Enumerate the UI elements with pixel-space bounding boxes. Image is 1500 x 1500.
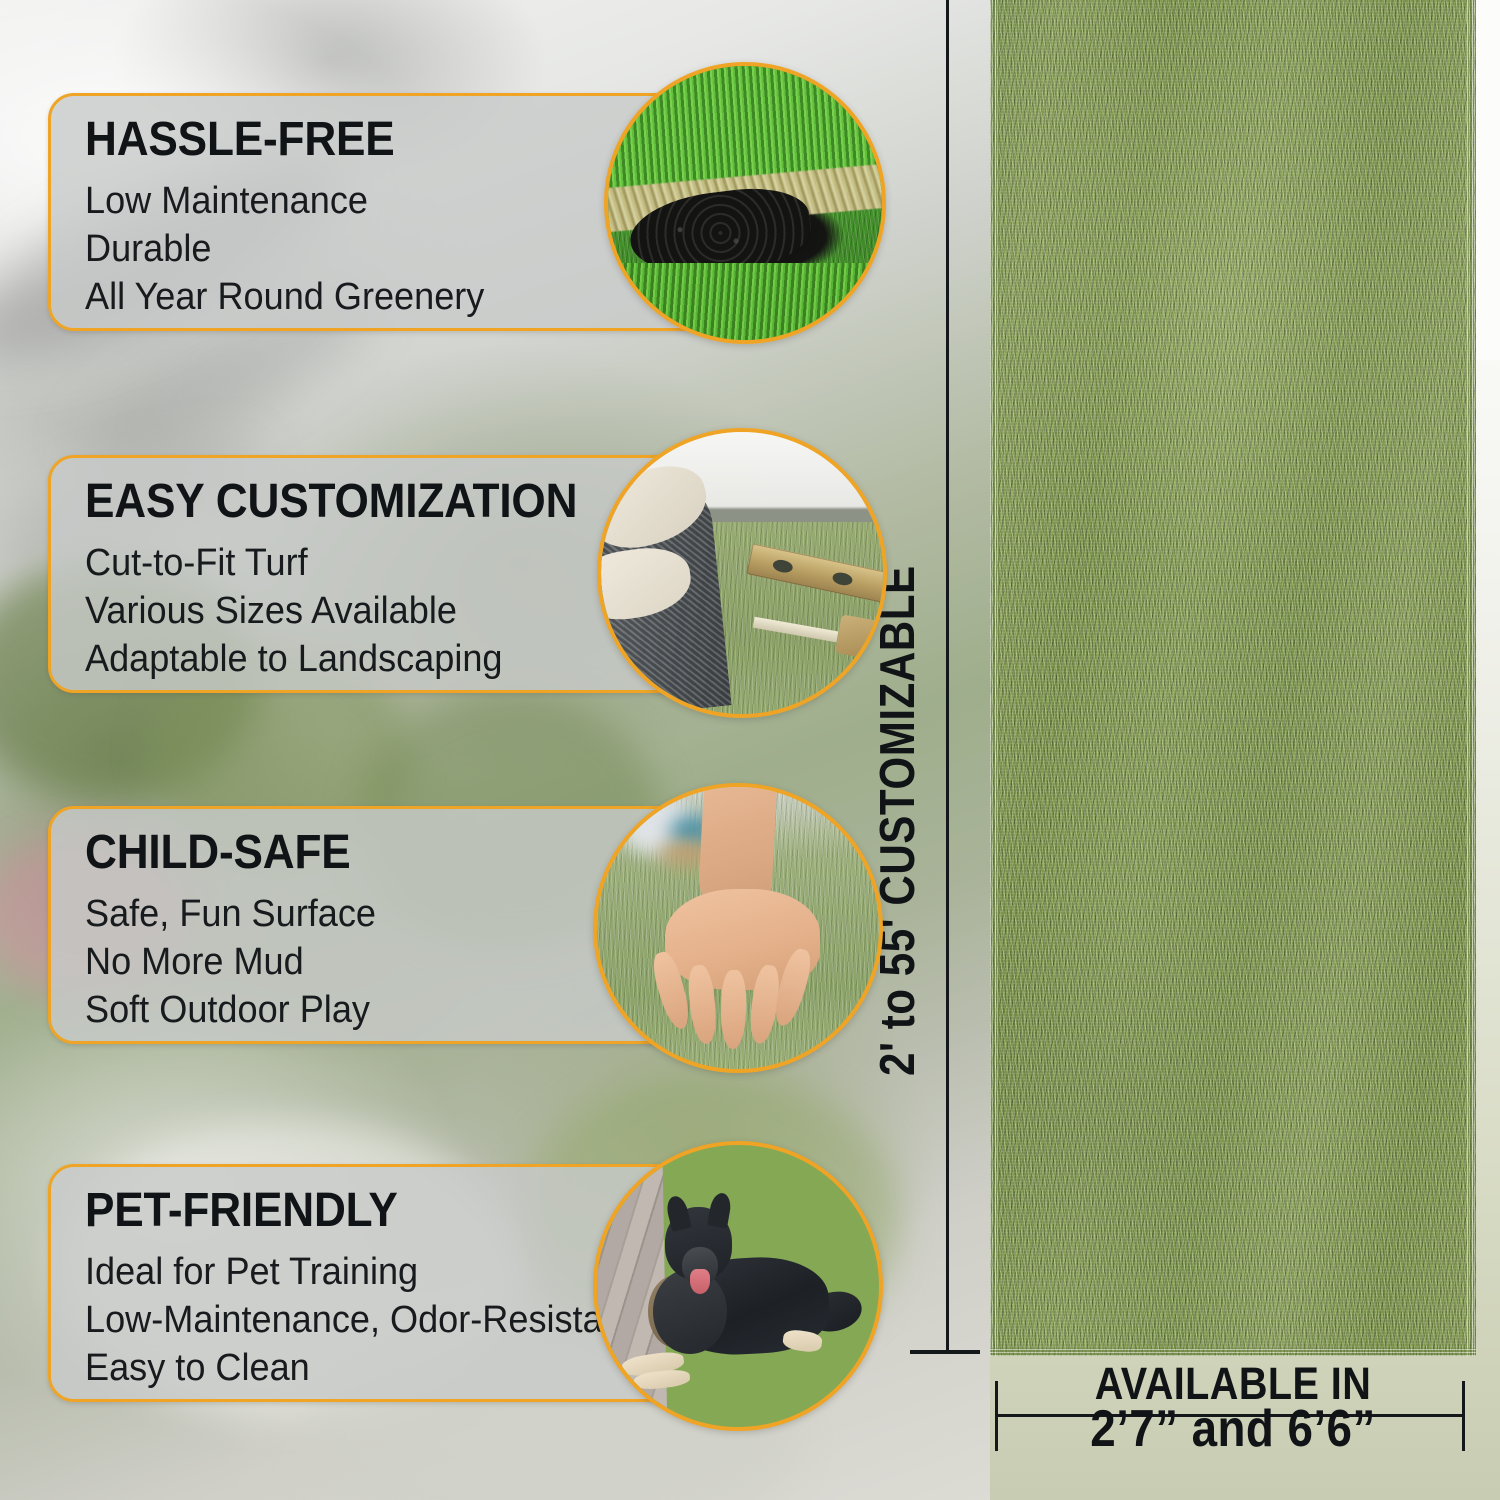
feature-card-bullets: Safe, Fun Surface No More Mud Soft Outdo… [85,891,391,1035]
feature-card-title: HASSLE-FREE [85,112,395,167]
feature-card-bullets: Cut-to-Fit Turf Various Sizes Available … [85,540,524,684]
feature-card-bullets: Ideal for Pet Training Low-Maintenance, … [85,1249,662,1393]
feature-bullet: Low-Maintenance, Odor-Resistant [85,1297,633,1345]
feature-bullet: Ideal for Pet Training [85,1249,633,1297]
feature-bullet: Cut-to-Fit Turf [85,540,502,588]
feature-card-title: PET-FRIENDLY [85,1183,398,1238]
feature-bullet: No More Mud [85,939,376,987]
feature-bullet: All Year Round Greenery [85,274,484,322]
feature-bullet: Durable [85,226,484,274]
feature-card-title: CHILD-SAFE [85,825,351,880]
feature-bullet: Adaptable to Landscaping [85,636,502,684]
feature-bullet: Low Maintenance [85,178,484,226]
child-hand-on-turf-photo [593,783,883,1073]
infographic-canvas: 2' to 55' CUSTOMIZABLE AVAILABLE IN 2’7”… [0,0,1500,1500]
width-measurement-label: AVAILABLE IN 2’7” and 6’6” [1038,1362,1428,1455]
width-measurement-end-cap-right [1462,1381,1465,1451]
length-measurement-line [946,0,949,1353]
feature-card-bullets: Low Maintenance Durable All Year Round G… [85,178,505,322]
feature-bullet: Easy to Clean [85,1345,633,1393]
feature-bullet: Various Sizes Available [85,588,502,636]
length-measurement-end-cap [910,1350,980,1354]
width-label-line1: AVAILABLE IN [1061,1362,1404,1405]
feature-bullet: Safe, Fun Surface [85,891,376,939]
width-measurement-end-cap-left [995,1381,998,1451]
feature-bullet: Soft Outdoor Play [85,987,376,1035]
width-label-line2: 2’7” and 6’6” [1061,1405,1404,1455]
artificial-turf-roll [990,0,1476,1356]
gloved-hands-unrolling-turf-photo [597,428,887,718]
dog-lying-on-turf-photo [593,1141,883,1431]
feature-card-title: EASY CUSTOMIZATION [85,474,577,529]
turf-sample-with-backing-photo [604,62,886,344]
